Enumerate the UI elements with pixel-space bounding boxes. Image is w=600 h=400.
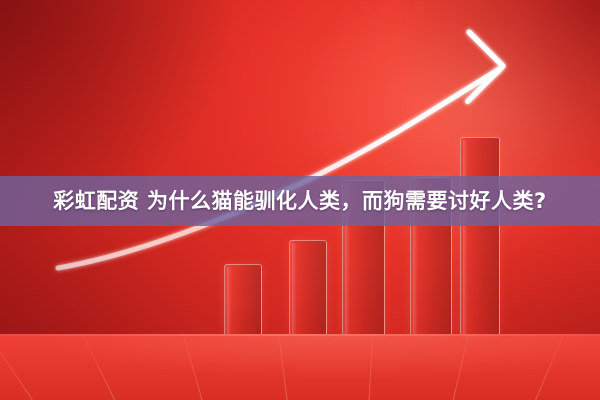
floor-sheen [0, 334, 600, 400]
bar-2 [289, 240, 327, 334]
bar-1 [224, 264, 262, 334]
perspective-floor [0, 334, 600, 400]
headline-band: 彩虹配资 为什么猫能驯化人类，而狗需要讨好人类? [0, 176, 600, 226]
promo-banner-image: 彩虹配资 为什么猫能驯化人类，而狗需要讨好人类? [0, 0, 600, 400]
headline-text: 彩虹配资 为什么猫能驯化人类，而狗需要讨好人类? [53, 191, 547, 212]
bar-5 [460, 137, 500, 334]
